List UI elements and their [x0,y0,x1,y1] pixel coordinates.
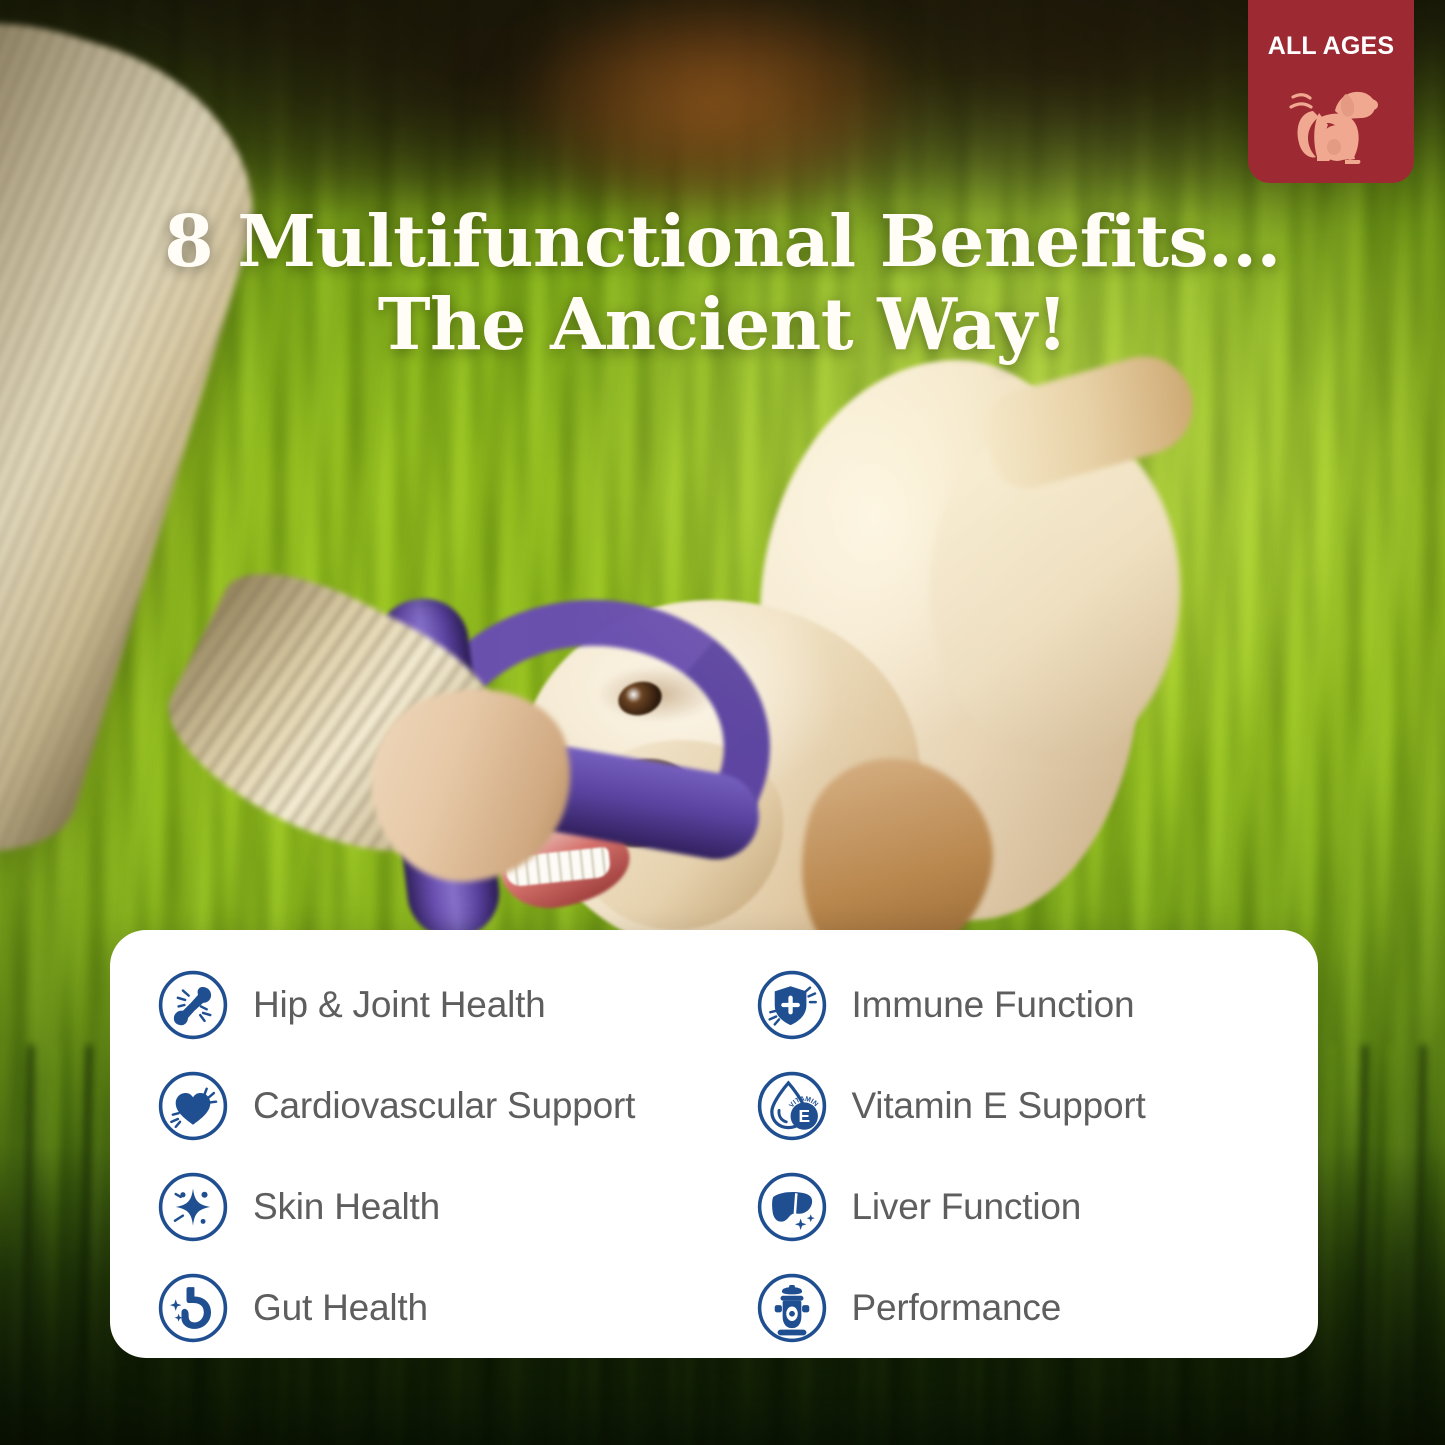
stomach-icon [157,1272,229,1344]
benefit-label: Skin Health [253,1186,440,1228]
benefit-label: Immune Function [852,984,1135,1026]
vitamin-e-letter: E [798,1105,810,1125]
shield-plus-icon [756,969,828,1041]
benefit-item-performance: Performance [756,1257,1319,1358]
all-ages-label: ALL AGES [1268,32,1395,61]
liver-icon [756,1171,828,1243]
benefit-label: Hip & Joint Health [253,984,546,1026]
blurred-brown-paw [430,0,950,220]
headline-line-1: 8 Multifunctional Benefits... [164,199,1280,283]
benefit-label: Cardiovascular Support [253,1085,635,1127]
benefit-label: Performance [852,1287,1062,1329]
headline-line-2: The Ancient Way! [60,283,1385,367]
benefit-item-hip-joint-health: Hip & Joint Health [157,954,720,1055]
benefit-item-cardiovascular-support: Cardiovascular Support [157,1055,720,1156]
bone-joint-icon [157,969,229,1041]
benefits-card: Hip & Joint Health Cardiovascular Suppor… [110,930,1318,1358]
benefit-item-vitamin-e-support: E VITAMIN Vitamin E Support [756,1055,1319,1156]
fire-hydrant-icon [756,1272,828,1344]
benefits-column-right: Immune Function E VITAMIN Vitami [720,954,1319,1358]
page-title: 8 Multifunctional Benefits... The Ancien… [0,200,1445,368]
benefit-item-skin-health: Skin Health [157,1156,720,1257]
benefit-item-gut-health: Gut Health [157,1257,720,1358]
benefit-label: Gut Health [253,1287,428,1329]
droplet-vitamin-e-icon: E VITAMIN [756,1070,828,1142]
sparkle-star-icon [157,1171,229,1243]
sitting-dog-icon [1283,67,1379,171]
benefit-item-liver-function: Liver Function [756,1156,1319,1257]
benefit-item-immune-function: Immune Function [756,954,1319,1055]
heart-icon [157,1070,229,1142]
benefit-label: Liver Function [852,1186,1082,1228]
benefits-column-left: Hip & Joint Health Cardiovascular Suppor… [110,954,720,1358]
all-ages-badge: ALL AGES [1248,0,1414,183]
poster-canvas: ALL AGES [0,0,1445,1445]
benefit-label: Vitamin E Support [852,1085,1146,1127]
